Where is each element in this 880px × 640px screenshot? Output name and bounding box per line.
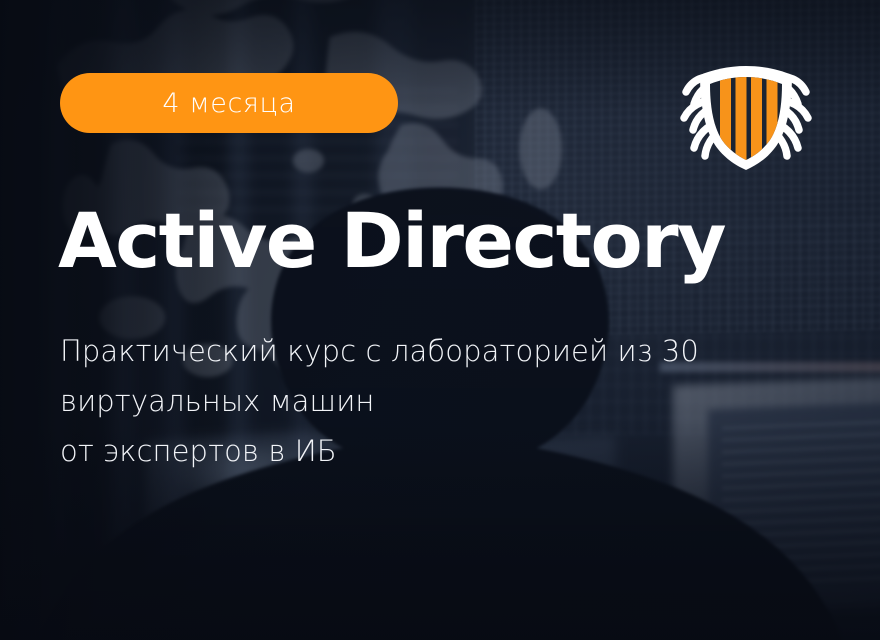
subtitle-line-3: от экспертов в ИБ: [60, 426, 800, 476]
course-promo-banner: 4 месяца Active Directory Практический к…: [0, 0, 880, 640]
shield-spider-logo: [672, 52, 820, 170]
page-title: Active Directory: [58, 203, 725, 279]
subtitle-block: Практический курс с лабораторией из 30 в…: [60, 326, 800, 476]
duration-badge: 4 месяца: [60, 73, 398, 133]
subtitle-line-1: Практический курс с лабораторией из 30: [60, 326, 800, 376]
duration-badge-label: 4 месяца: [162, 90, 295, 117]
subtitle-line-2: виртуальных машин: [60, 376, 800, 426]
banner-content: 4 месяца Active Directory Практический к…: [0, 0, 880, 640]
